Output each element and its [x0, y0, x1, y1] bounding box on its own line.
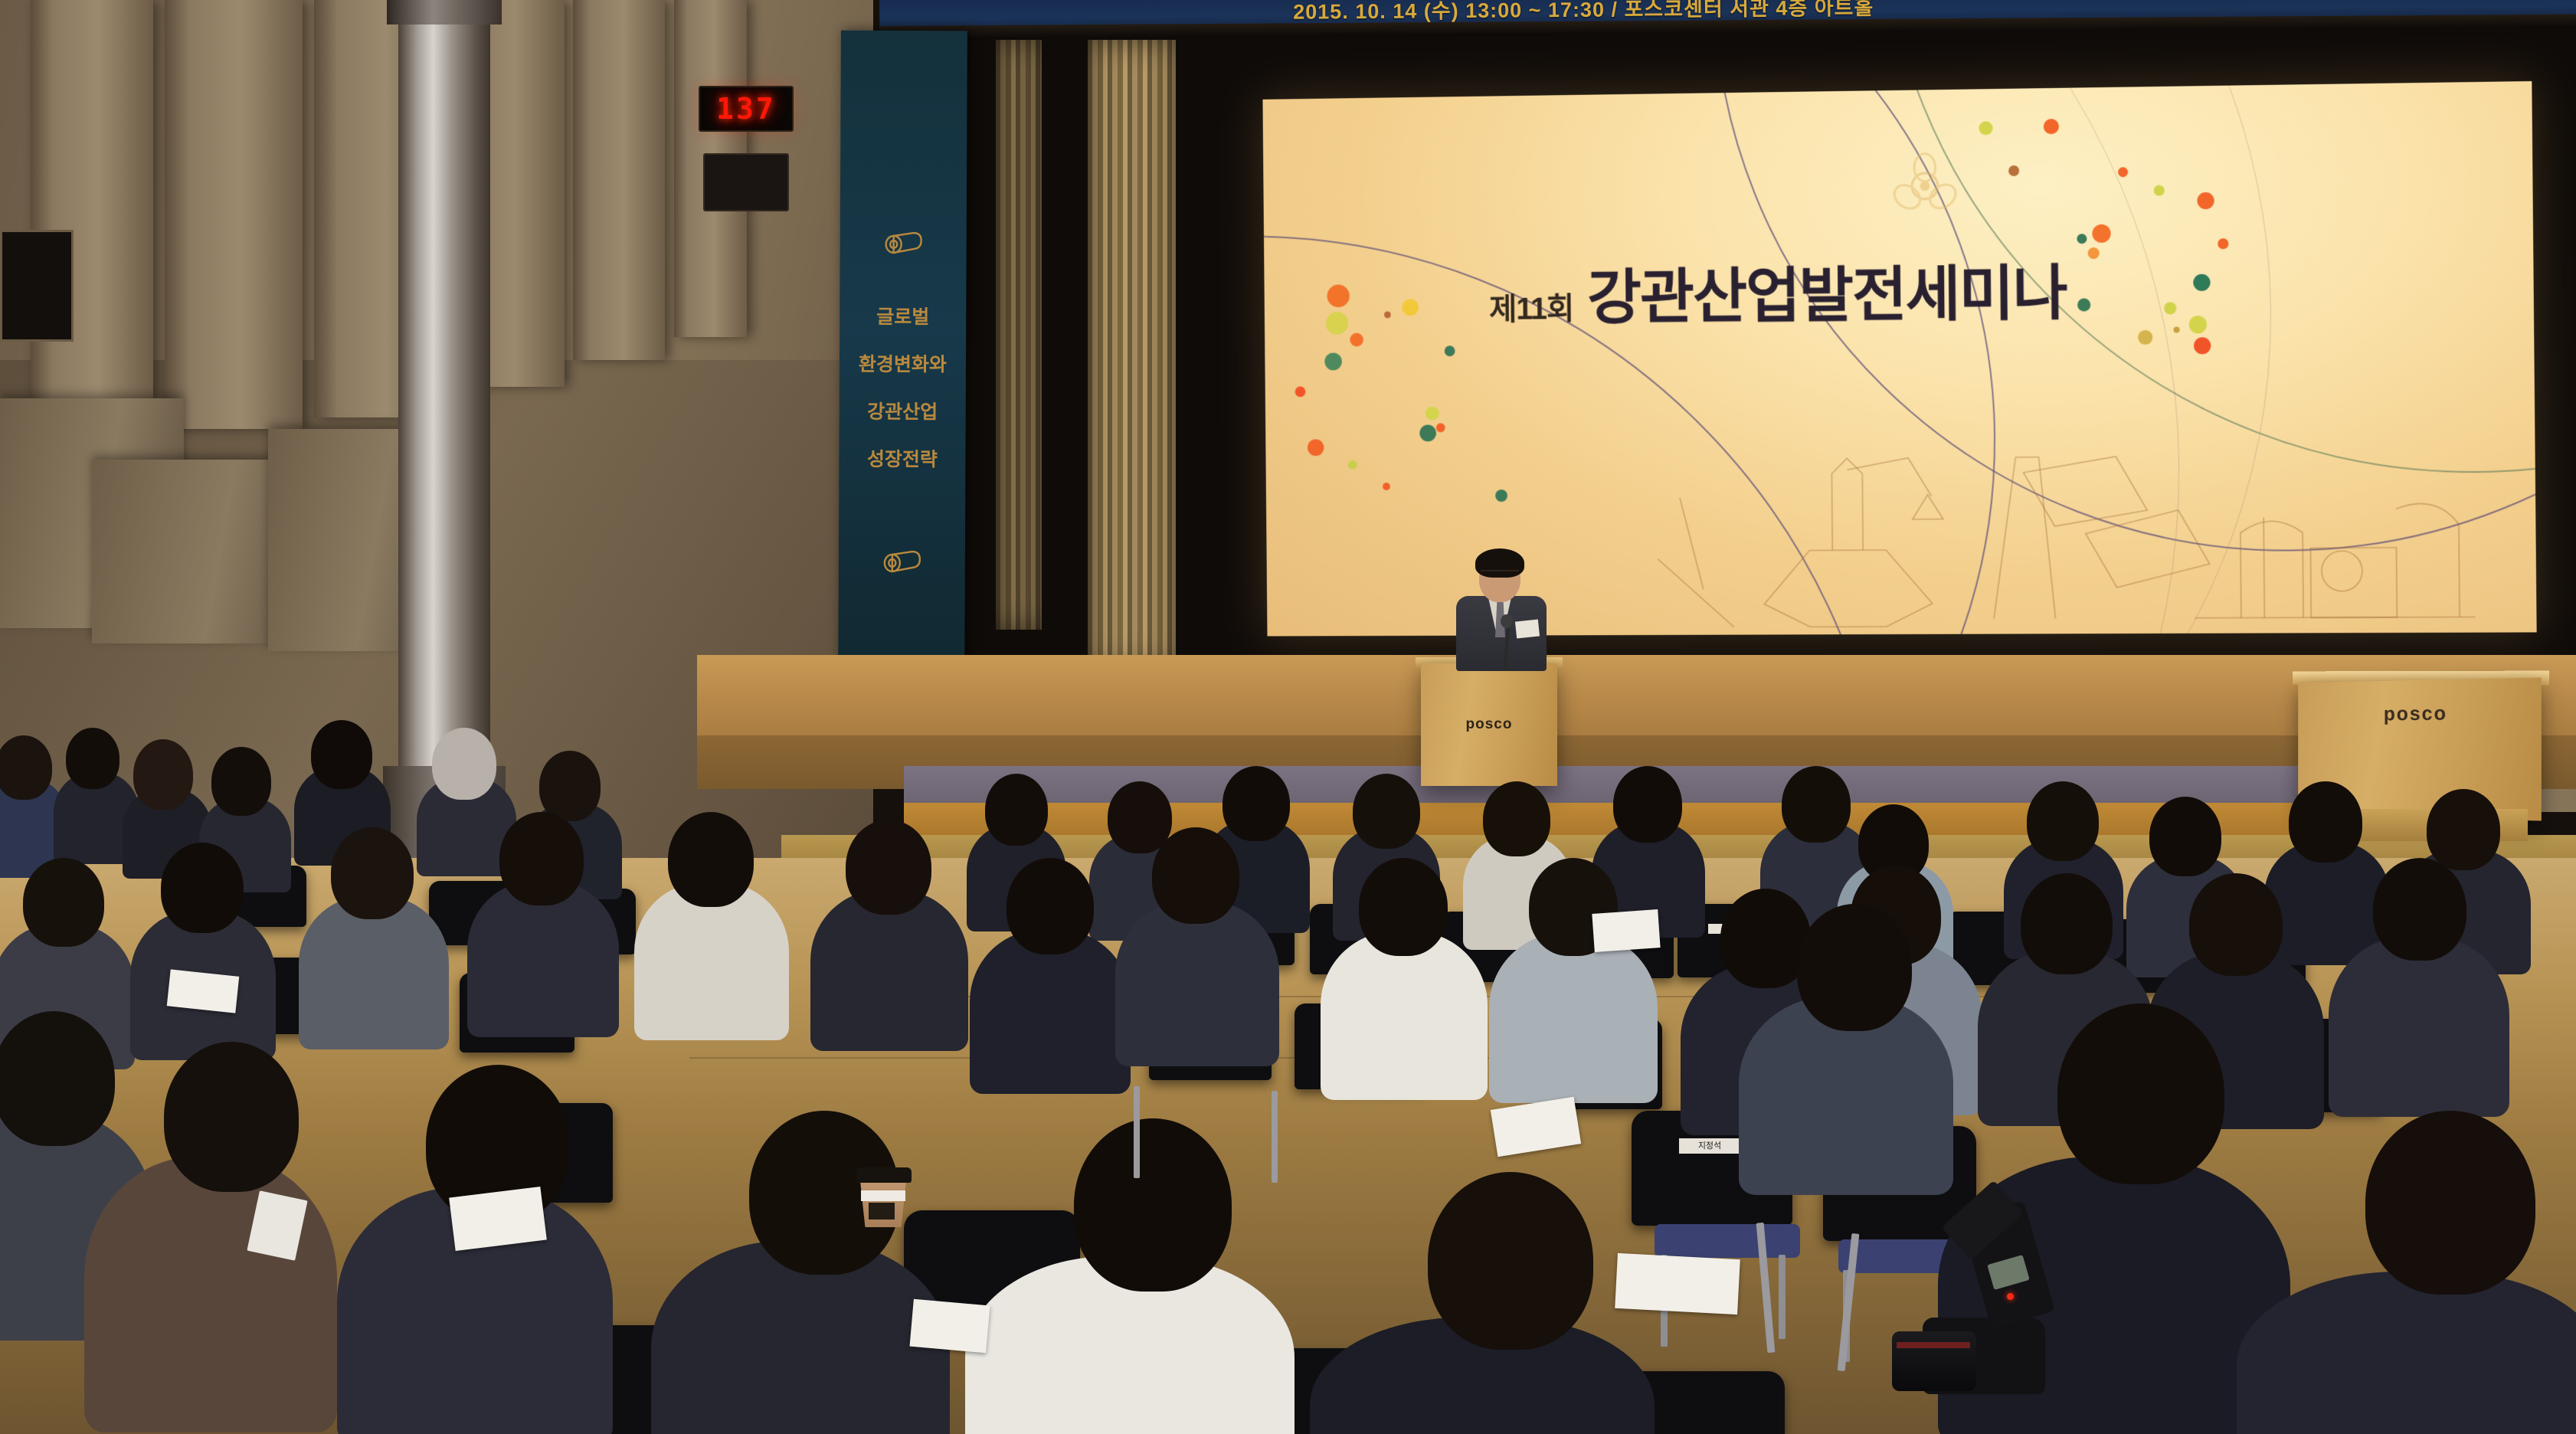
screen-dot — [2218, 238, 2228, 249]
screen-dot — [1402, 299, 1419, 316]
chair-leg — [1779, 1255, 1786, 1339]
camera-lens-ring — [1897, 1342, 1970, 1348]
screen-dot — [2193, 274, 2210, 291]
stage-curtain — [996, 40, 1042, 630]
screen-dot — [2194, 337, 2211, 354]
screen-dot — [2138, 330, 2152, 345]
dslr-camera — [1892, 1203, 2114, 1417]
screen-title-prefix: 제11회 — [1489, 283, 1574, 329]
hall-column — [398, 0, 490, 827]
side-banner-line: 성장전략 — [867, 444, 938, 472]
screen-dot — [1348, 460, 1357, 470]
camera-lens-icon — [1892, 1331, 1976, 1391]
seat-label: 지정석 — [1679, 1138, 1740, 1154]
screen-dot — [1436, 423, 1445, 432]
steel-pipe-icon — [881, 548, 922, 579]
screen-dot — [1495, 489, 1507, 502]
screen-dot — [2077, 234, 2087, 244]
screen-dot — [1308, 439, 1324, 456]
screen-title: 제11회 강관산업발전세미나 — [1489, 245, 2067, 336]
screen-dot — [1327, 284, 1350, 307]
screen-dot — [2164, 302, 2176, 314]
screen-dot — [2174, 326, 2180, 332]
screen-dot — [1419, 424, 1436, 441]
handout-paper — [1592, 909, 1660, 952]
stage-curtain — [1088, 40, 1176, 668]
podium-logo: posco — [1421, 663, 1557, 786]
screen-dot — [1425, 407, 1439, 421]
auditorium-scene: 137 2015. 10. 14 (수) 13:00 ~ 17:30 / 포스코… — [0, 0, 2576, 1434]
handout-paper — [449, 1187, 547, 1251]
screen-dot — [2154, 185, 2165, 196]
screen-dot — [1326, 312, 1349, 335]
chair-leg — [1272, 1091, 1278, 1183]
side-banner-line: 강관산업 — [867, 397, 938, 424]
screen-dot — [2092, 224, 2110, 243]
camera-led-icon — [2007, 1293, 2014, 1300]
column-cap — [387, 0, 502, 25]
name-badge — [1515, 619, 1540, 638]
side-banner-line: 환경변화와 — [859, 349, 947, 378]
screen-dot — [2077, 298, 2090, 311]
wall-fin — [165, 0, 303, 429]
posco-flower-icon — [1883, 149, 1968, 223]
podium-logo: posco — [2298, 700, 2542, 727]
coffee-cup — [856, 1157, 912, 1227]
digital-clock: 137 — [699, 86, 794, 132]
handout-paper — [1615, 1253, 1740, 1314]
wall-fin — [573, 0, 665, 360]
screen-dot — [1350, 333, 1363, 347]
glasses-icon — [1481, 570, 1519, 579]
clock-digits: 137 — [716, 92, 776, 126]
screen-dot — [2197, 192, 2214, 209]
industrial-lineart — [1656, 423, 2522, 635]
screen-dot — [1445, 345, 1455, 356]
screen-dot — [1979, 121, 1992, 135]
microphone-icon — [1501, 614, 1513, 628]
screen-dot — [1383, 483, 1390, 490]
podium-left: posco — [1421, 663, 1557, 786]
screen-dot — [1384, 311, 1391, 318]
steel-pipe-icon — [882, 230, 924, 260]
chair-leg — [1134, 1086, 1140, 1178]
speaker-person — [1452, 547, 1551, 670]
screen-dot — [2044, 119, 2059, 134]
screen-dot — [2088, 247, 2100, 259]
screen-title-main: 강관산업발전세미나 — [1586, 245, 2067, 336]
side-banner-line: 글로벌 — [876, 302, 929, 329]
screen-dot — [2008, 165, 2019, 176]
handout-paper — [909, 1299, 990, 1353]
chair-cushion[interactable] — [1655, 1224, 1800, 1258]
screen-dot — [2189, 316, 2207, 333]
clock-lower-panel — [703, 153, 789, 211]
handout-paper — [167, 969, 240, 1013]
screen-dot — [1324, 352, 1342, 370]
wall-vent — [0, 230, 74, 342]
screen-dot — [2118, 167, 2128, 177]
screen-dot — [1295, 386, 1306, 397]
side-banner: 글로벌 환경변화와 강관산업 성장전략 — [838, 31, 967, 690]
